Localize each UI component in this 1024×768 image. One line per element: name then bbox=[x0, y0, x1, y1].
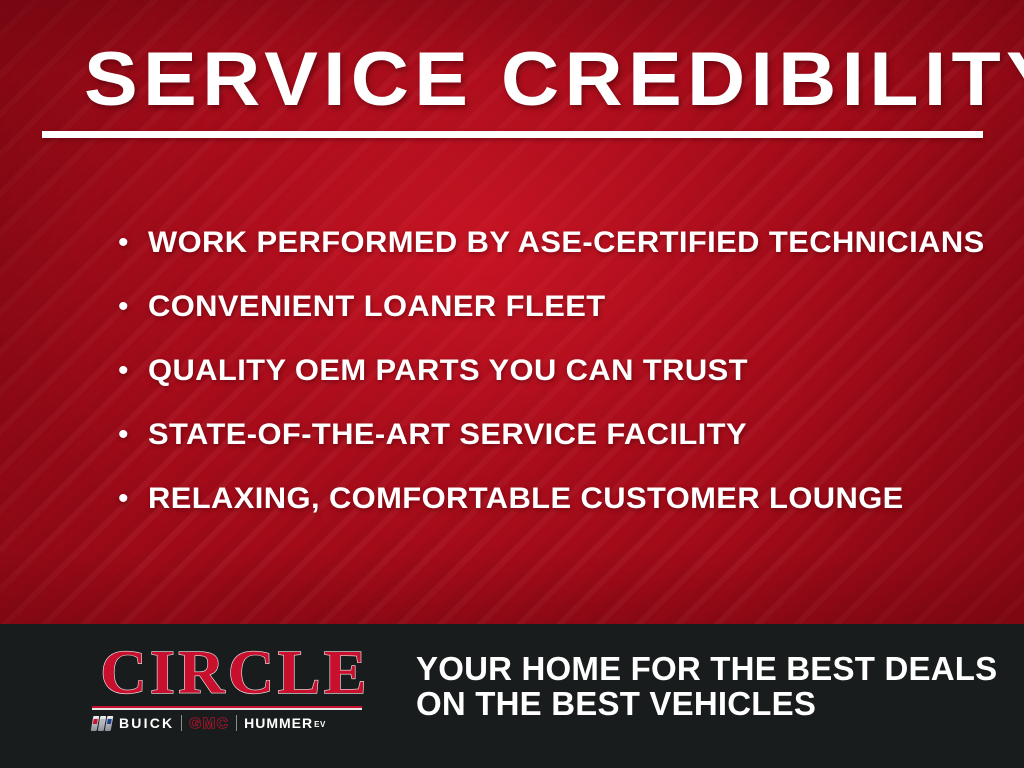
bullet-text: CONVENIENT LOANER FLEET bbox=[148, 292, 606, 322]
bullet-marker-icon: • bbox=[118, 484, 148, 514]
bullet-text: QUALITY OEM PARTS YOU CAN TRUST bbox=[148, 356, 748, 386]
title-underline-rule bbox=[42, 131, 983, 138]
list-item: • CONVENIENT LOANER FLEET bbox=[118, 292, 998, 356]
footer-bar: CIRCLE BUICK GMC HUMMER EV bbox=[0, 624, 1024, 768]
list-item: • RELAXING, COMFORTABLE CUSTOMER LOUNGE bbox=[118, 484, 998, 548]
bullet-marker-icon: • bbox=[118, 420, 148, 450]
dealership-logo: CIRCLE BUICK GMC HUMMER EV bbox=[92, 642, 378, 731]
buick-trishield-icon bbox=[92, 716, 112, 731]
bullet-text: RELAXING, COMFORTABLE CUSTOMER LOUNGE bbox=[148, 484, 904, 514]
bullet-text: WORK PERFORMED BY ASE-CERTIFIED TECHNICI… bbox=[148, 228, 985, 258]
logo-wordmark: CIRCLE bbox=[86, 642, 383, 704]
logo-rule-white bbox=[92, 708, 362, 710]
brand-label-hummer: HUMMER EV bbox=[244, 716, 326, 730]
brand-strip: BUICK GMC HUMMER EV bbox=[92, 715, 368, 731]
brand-separator-icon bbox=[236, 715, 237, 731]
brand-label-hummer-ev: EV bbox=[314, 721, 326, 730]
brand-label-buick: BUICK bbox=[119, 716, 174, 730]
tagline-line-1: YOUR HOME FOR THE BEST DEALS bbox=[416, 652, 1006, 687]
brand-label-hummer-text: HUMMER bbox=[244, 716, 313, 730]
list-item: • STATE-OF-THE-ART SERVICE FACILITY bbox=[118, 420, 998, 484]
tagline-line-2: ON THE BEST VEHICLES bbox=[416, 687, 1006, 722]
list-item: • WORK PERFORMED BY ASE-CERTIFIED TECHNI… bbox=[118, 228, 998, 292]
slide-root: SERVICE CREDIBILITY • WORK PERFORMED BY … bbox=[0, 0, 1024, 768]
bullet-marker-icon: • bbox=[118, 356, 148, 386]
bullet-text: STATE-OF-THE-ART SERVICE FACILITY bbox=[148, 420, 747, 450]
brand-separator-icon bbox=[181, 715, 182, 731]
list-item: • QUALITY OEM PARTS YOU CAN TRUST bbox=[118, 356, 998, 420]
bullet-marker-icon: • bbox=[118, 228, 148, 258]
shield-segment bbox=[105, 716, 114, 731]
bullet-marker-icon: • bbox=[118, 292, 148, 322]
bullet-list: • WORK PERFORMED BY ASE-CERTIFIED TECHNI… bbox=[118, 228, 998, 548]
brand-label-gmc: GMC bbox=[189, 716, 229, 731]
page-title: SERVICE CREDIBILITY bbox=[84, 42, 1024, 118]
footer-tagline: YOUR HOME FOR THE BEST DEALS ON THE BEST… bbox=[416, 652, 1006, 722]
